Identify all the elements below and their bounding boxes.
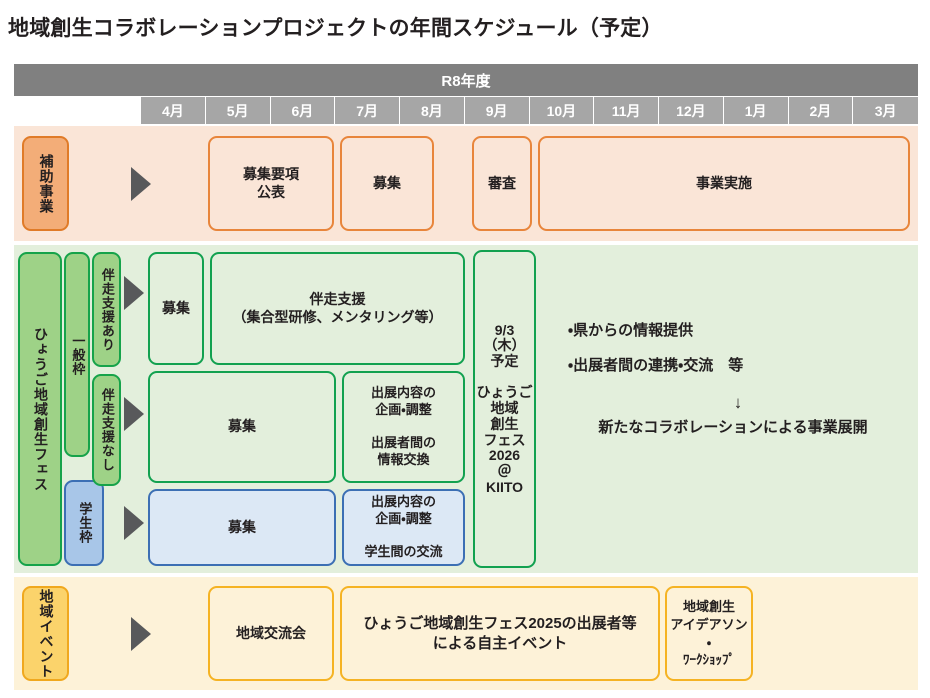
fes-student-item-0: 募集 xyxy=(148,489,336,566)
fes-event-box: 9/3 （木） 予定 ひょうご 地域 創生 フェス 2026 ＠ KIITO xyxy=(473,250,536,568)
fiscal-year-header: R8年度 xyxy=(14,64,918,96)
month-cell-6: 6月 xyxy=(271,97,336,124)
local-event-item-2: 地域創生 アイデアソン ・ ﾜｰｸｼｮｯﾌﾟ xyxy=(665,586,753,681)
month-cell-9: 9月 xyxy=(465,97,530,124)
subsidy-arrow-icon xyxy=(131,167,151,201)
month-cell-2: 2月 xyxy=(789,97,854,124)
fes-note-conclusion: 新たなコラボレーションによる事業展開 xyxy=(548,417,918,440)
fes-student-item-1: 出展内容の 企画・調整 学生間の交流 xyxy=(342,489,465,566)
month-cell-1: 1月 xyxy=(724,97,789,124)
fes-arrow-without-support-icon xyxy=(124,397,144,431)
fes-note-bullet-0: ・県からの情報提供 xyxy=(568,320,693,343)
fes-arrow-with-support-icon xyxy=(124,276,144,310)
month-cell-10: 10月 xyxy=(530,97,595,124)
month-cell-11: 11月 xyxy=(594,97,659,124)
fes-note-bullet-1: ・出展者間の連携・交流 等 xyxy=(568,355,743,378)
month-cell-12: 12月 xyxy=(659,97,724,124)
fes-with-support-item-1: 伴走支援 （集合型研修、メンタリング等） xyxy=(210,252,465,365)
local-event-item-1: ひょうご地域創生フェス2025の出展者等 による自主イベント xyxy=(340,586,660,681)
fes-without-support-item-0: 募集 xyxy=(148,371,336,483)
subsidy-item-2: 審査 xyxy=(472,136,532,231)
local-event-arrow-icon xyxy=(131,617,151,651)
fes-note-arrow-icon: ↓ xyxy=(568,390,908,416)
month-cell-3: 3月 xyxy=(853,97,918,124)
fes-row-label: ひょうご地域創生フェス xyxy=(18,252,62,566)
local-event-row-label: 地域イベント xyxy=(22,586,69,681)
subsidy-item-1: 募集 xyxy=(340,136,434,231)
fes-arrow-student-icon xyxy=(124,506,144,540)
month-cell-7: 7月 xyxy=(335,97,400,124)
month-cell-4: 4月 xyxy=(141,97,206,124)
fes-with-support-item-0: 募集 xyxy=(148,252,204,365)
local-event-item-0: 地域交流会 xyxy=(208,586,334,681)
fes-track-label-student: 学生枠 xyxy=(64,480,104,566)
fes-subtrack-label-without-support: 伴走支援なし xyxy=(92,374,121,486)
page-title: 地域創生コラボレーションプロジェクトの年間スケジュール（予定） xyxy=(8,12,663,42)
month-cell-8: 8月 xyxy=(400,97,465,124)
fes-subtrack-label-with-support: 伴走支援あり xyxy=(92,252,121,367)
subsidy-item-3: 事業実施 xyxy=(538,136,910,231)
fes-without-support-item-1: 出展内容の 企画・調整 出展者間の 情報交換 xyxy=(342,371,465,483)
month-cell-5: 5月 xyxy=(206,97,271,124)
subsidy-row-label: 補助事業 xyxy=(22,136,69,231)
subsidy-item-0: 募集要項 公表 xyxy=(208,136,334,231)
month-header-row: 4月 5月 6月 7月 8月 9月 10月 11月 12月 1月 2月 3月 xyxy=(14,97,918,124)
fes-track-label-general: 一般枠 xyxy=(64,252,90,457)
schedule-diagram: 地域創生コラボレーションプロジェクトの年間スケジュール（予定） R8年度 4月 … xyxy=(0,0,930,698)
